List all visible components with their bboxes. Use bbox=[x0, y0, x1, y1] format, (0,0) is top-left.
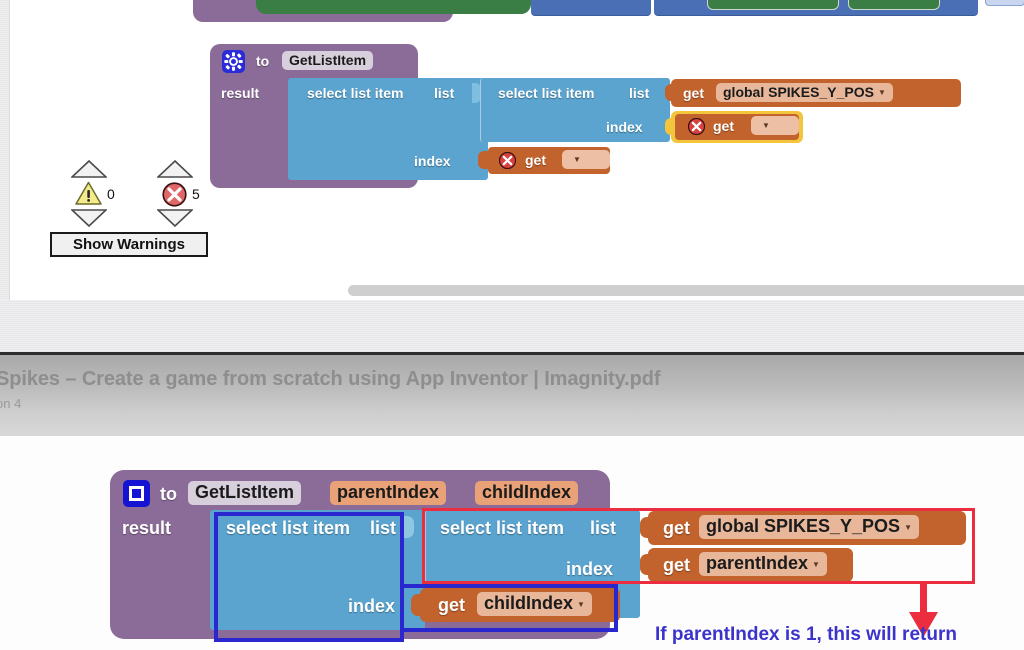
socket-notch-inner-index bbox=[665, 118, 674, 135]
blue-highlight-box-inner bbox=[400, 584, 618, 632]
select-list-item-outer-index-label: index bbox=[414, 153, 451, 169]
partial-white-field[interactable] bbox=[985, 0, 1024, 6]
pdf-param-childindex: childIndex bbox=[475, 481, 578, 505]
get-error-inner-label: get bbox=[713, 118, 734, 134]
pdf-viewer-titlebar: Spikes – Create a game from scratch usin… bbox=[0, 352, 1024, 436]
pdf-to-label: to bbox=[160, 484, 177, 505]
warning-count: 0 bbox=[107, 186, 115, 202]
chevron-down-icon[interactable]: ▼ bbox=[762, 121, 770, 130]
show-warnings-label: Show Warnings bbox=[73, 236, 185, 253]
get-global-value-dropdown[interactable]: global SPIKES_Y_POS▼ bbox=[716, 83, 893, 102]
pdf-document-title: Spikes – Create a game from scratch usin… bbox=[0, 368, 660, 391]
error-down-arrow[interactable] bbox=[157, 209, 193, 232]
chevron-down-icon[interactable]: ▼ bbox=[878, 88, 886, 97]
blue-highlight-box-outer bbox=[214, 512, 404, 642]
warnings-errors-indicator: 0 5 Show Warnings bbox=[50, 160, 220, 260]
error-x-icon[interactable] bbox=[688, 118, 705, 135]
get-global-label: get bbox=[683, 85, 704, 101]
app-inventor-window: BirdSprite Height bbox=[0, 0, 1024, 317]
partial-dark-blue-block-1[interactable] bbox=[531, 0, 651, 16]
show-warnings-button[interactable]: Show Warnings bbox=[50, 232, 208, 257]
get-error-outer-dropdown[interactable]: ▼ bbox=[562, 150, 610, 169]
warning-triangle-icon bbox=[75, 181, 102, 206]
pdf-page-indicator: on 4 bbox=[0, 396, 21, 411]
pdf-socket-notch-outer-list bbox=[404, 516, 414, 538]
green-getter-field-2[interactable]: Height bbox=[848, 0, 940, 10]
desktop-background bbox=[0, 300, 1024, 352]
get-global-value: global SPIKES_Y_POS bbox=[723, 84, 874, 100]
socket-notch-global bbox=[665, 84, 674, 101]
get-error-outer-label: get bbox=[525, 152, 546, 168]
titlebar-top-edge bbox=[0, 352, 1024, 355]
get-error-inner-dropdown[interactable]: ▼ bbox=[751, 116, 799, 135]
warning-up-arrow[interactable] bbox=[71, 160, 107, 183]
select-list-item-inner-list-label: list bbox=[629, 85, 649, 101]
select-list-item-outer-title: select list item bbox=[307, 85, 404, 101]
error-x-icon bbox=[162, 182, 187, 207]
pdf-param-parentindex: parentIndex bbox=[330, 481, 446, 505]
select-list-item-inner-title: select list item bbox=[498, 85, 595, 101]
gear-icon[interactable] bbox=[222, 50, 245, 73]
error-count: 5 bbox=[192, 186, 200, 202]
warning-down-arrow[interactable] bbox=[71, 209, 107, 232]
select-list-item-inner-index-label: index bbox=[606, 119, 643, 135]
pdf-procedure-name-field: GetListItem bbox=[188, 481, 301, 505]
procedure-name-field[interactable]: GetListItem bbox=[282, 51, 373, 70]
blocks-canvas[interactable]: BirdSprite Height bbox=[9, 0, 1024, 304]
error-x-icon[interactable] bbox=[499, 152, 516, 169]
chevron-down-icon[interactable]: ▼ bbox=[573, 155, 581, 164]
gear-icon bbox=[123, 480, 150, 507]
red-highlight-box bbox=[422, 508, 975, 584]
green-getter-field-1[interactable]: BirdSprite bbox=[707, 0, 839, 10]
horizontal-scrollbar-thumb[interactable] bbox=[348, 285, 1024, 296]
socket-notch-outer-index bbox=[478, 151, 488, 169]
pdf-result-label: result bbox=[122, 518, 171, 539]
result-label: result bbox=[221, 85, 259, 101]
annotation-caption: If parentIndex is 1, this will return bbox=[655, 624, 957, 646]
select-list-item-outer-list-label: list bbox=[434, 85, 454, 101]
partial-green-block[interactable] bbox=[256, 0, 531, 14]
pdf-page-content[interactable]: to GetListItem parentIndex childIndex re… bbox=[0, 436, 1024, 650]
horizontal-scrollbar-track[interactable] bbox=[9, 285, 1024, 297]
to-label: to bbox=[256, 53, 269, 69]
error-up-arrow[interactable] bbox=[157, 160, 193, 183]
